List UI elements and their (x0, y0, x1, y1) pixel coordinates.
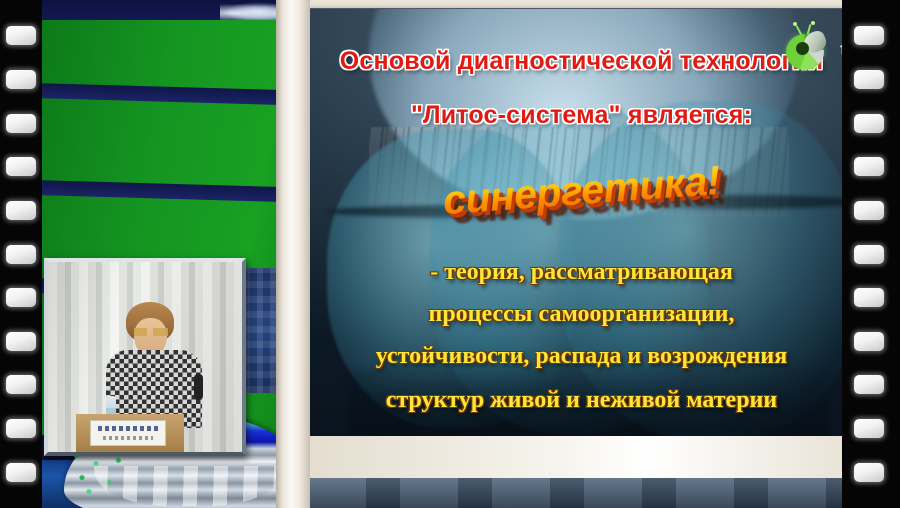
bug-antenna-tip-icon (793, 22, 797, 26)
sprocket-hole (854, 70, 884, 89)
sprocket-hole (6, 114, 36, 133)
sprocket-hole (854, 463, 884, 482)
vertical-divider (276, 0, 310, 508)
speaker-glasses (134, 328, 168, 336)
sprocket-hole (6, 332, 36, 351)
slide-body-line-4: структур живой и неживой материи (309, 387, 853, 414)
sprocket-hole (854, 288, 884, 307)
sprocket-hole (854, 157, 884, 176)
wall-stripe (42, 180, 300, 203)
slide-title-line-2: "Литос-система" является: (309, 101, 853, 130)
podium-name-line-2 (103, 436, 153, 440)
podium-name-line-1 (98, 426, 160, 431)
sprocket-hole (854, 114, 884, 133)
green-bug-icon (784, 26, 830, 72)
sprocket-hole (854, 245, 884, 264)
sprocket-hole (854, 201, 884, 220)
presentation-slide: Основой диагностической технологии "Лито… (308, 8, 853, 440)
sprocket-hole (6, 463, 36, 482)
bug-eye-icon (796, 42, 809, 55)
sprocket-hole (854, 375, 884, 394)
slide-lower-cream-band (308, 436, 853, 478)
sprocket-hole (6, 26, 36, 45)
slide-body-line-3: устойчивости, распада и возрождения (309, 343, 853, 370)
slide-body-line-1: - теория, рассматривающая (309, 259, 853, 286)
film-strip-left (0, 0, 42, 508)
sprocket-holes-left (6, 0, 36, 508)
sprocket-hole (6, 288, 36, 307)
sprocket-hole (6, 245, 36, 264)
sprocket-hole (854, 26, 884, 45)
film-strip-right (842, 0, 900, 508)
microphone-icon (194, 374, 203, 400)
broadcast-frame: Основой диагностической технологии "Лито… (0, 0, 900, 508)
sprocket-hole (6, 201, 36, 220)
sprocket-hole (6, 70, 36, 89)
wall-stripe (42, 83, 300, 106)
sprocket-hole (6, 157, 36, 176)
sprocket-hole (854, 332, 884, 351)
slide-title-line-1: Основой диагностической технологии (309, 47, 853, 76)
presentation-slide-area: Основой диагностической технологии "Лито… (300, 0, 858, 508)
sprocket-hole (6, 419, 36, 438)
sprocket-hole (854, 419, 884, 438)
slide-lower-blue-band (308, 478, 853, 508)
sprocket-hole (6, 375, 36, 394)
speaker-video-inset[interactable] (44, 258, 246, 456)
podium-name-card (90, 420, 166, 446)
bug-antenna-tip-icon (811, 21, 815, 25)
slide-body-line-2: процессы самоорганизации, (309, 301, 853, 328)
sprocket-holes-right (854, 0, 884, 508)
